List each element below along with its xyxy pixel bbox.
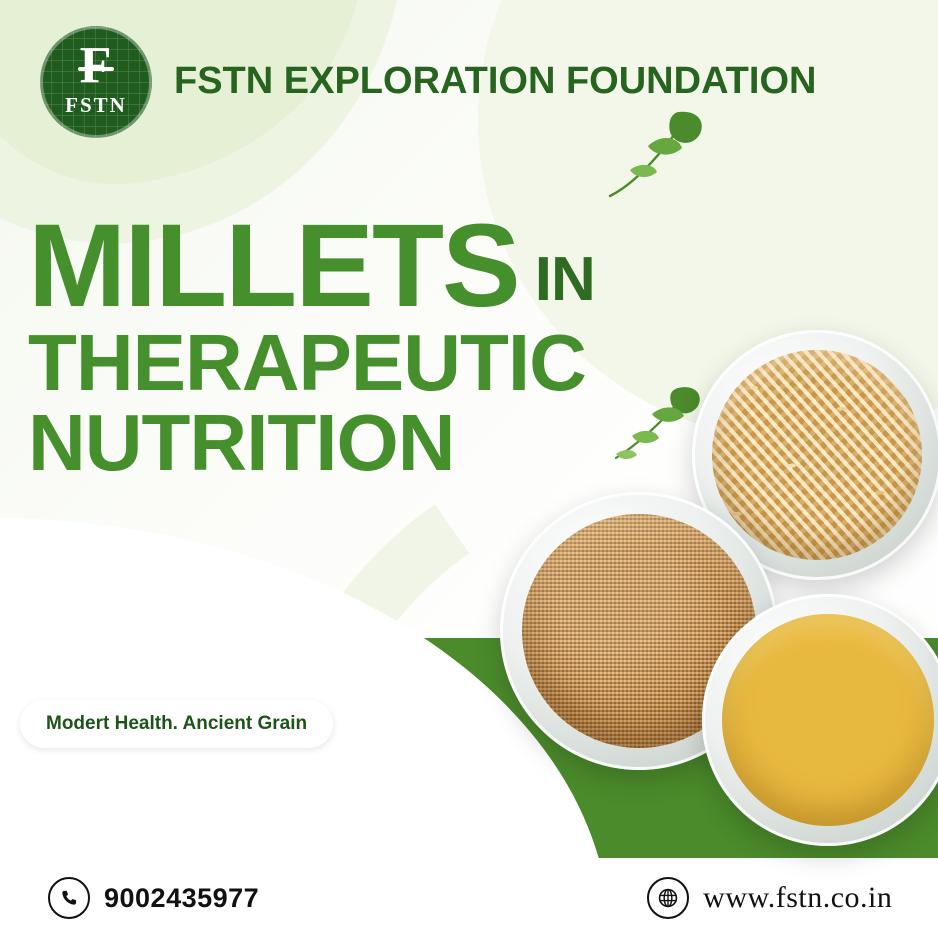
headline-therapeutic: THERAPEUTIC (28, 323, 728, 403)
footer-website-group[interactable]: www.fstn.co.in (647, 877, 892, 919)
logo-monogram: F (40, 40, 152, 92)
fstn-logo: F FSTN (40, 26, 152, 138)
organization-title: FSTN EXPLORATION FOUNDATION (174, 62, 816, 102)
headline-millets: MILLETS (28, 212, 519, 321)
headline-nutrition: NUTRITION (28, 403, 728, 483)
leaf-doodle-top-icon (600, 104, 710, 209)
footer-phone-group[interactable]: 9002435977 (48, 877, 259, 919)
footer-website-url: www.fstn.co.in (703, 881, 892, 915)
bowl-rim-yellow (702, 594, 938, 846)
yellow-millet-bowl (702, 594, 938, 846)
poster-canvas: F FSTN FSTN EXPLORATION FOUNDATION MILLE… (0, 0, 938, 938)
poster-header: F FSTN FSTN EXPLORATION FOUNDATION (40, 26, 908, 138)
poster-footer: 9002435977 www.fstn.co.in (0, 858, 938, 938)
tagline-pill: Modert Health. Ancient Grain (20, 700, 333, 748)
phone-icon (48, 877, 90, 919)
logo-monogram-bar (78, 67, 114, 71)
logo-name: FSTN (40, 93, 152, 118)
poster-headline: MILLETS IN THERAPEUTIC NUTRITION (28, 212, 728, 483)
headline-row-1: MILLETS IN (28, 212, 728, 321)
globe-icon (647, 877, 689, 919)
footer-phone-number: 9002435977 (104, 883, 259, 914)
headline-in: IN (535, 249, 595, 321)
